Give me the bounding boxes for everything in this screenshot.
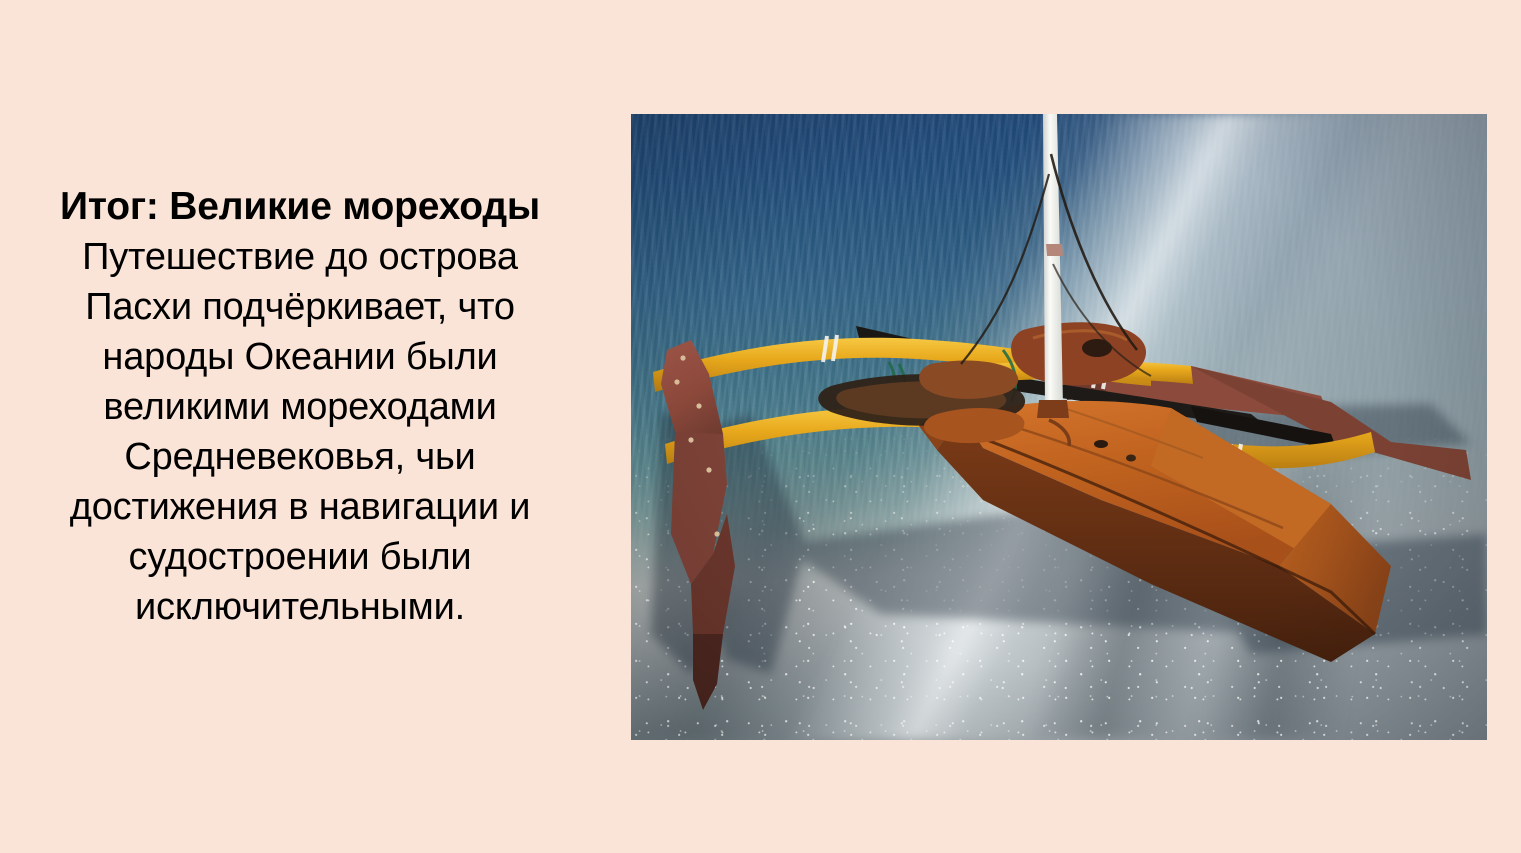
text-content-block: Итог: Великие мореходы Путешествие до ос…	[0, 182, 600, 632]
body-line: народы Океании были	[0, 332, 600, 382]
body-line: судостроении были	[0, 532, 600, 582]
slide-canvas: Итог: Великие мореходы Путешествие до ос…	[0, 0, 1521, 853]
body-line: великими мореходами	[0, 382, 600, 432]
page-title: Итог: Великие мореходы	[0, 182, 600, 232]
body-line: исключительными.	[0, 582, 600, 632]
body-line: Средневековья, чьи	[0, 432, 600, 482]
body-line: Пасхи подчёркивает, что	[0, 282, 600, 332]
body-line: достижения в навигации и	[0, 482, 600, 532]
photo-vignette	[631, 114, 1487, 740]
body-line: Путешествие до острова	[0, 232, 600, 282]
outrigger-canoe-photo	[631, 114, 1487, 740]
